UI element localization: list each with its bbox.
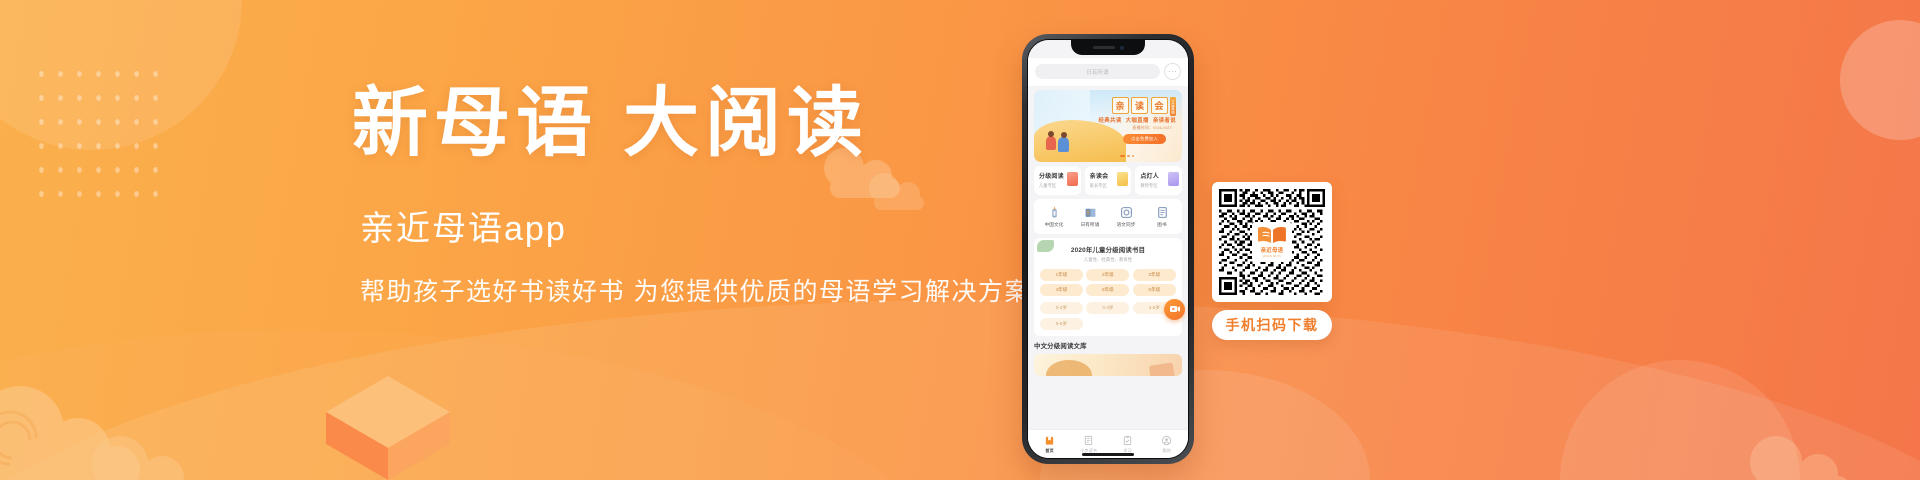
hero-subtitle: 经典共读 大咖直播 亲读者说 — [1098, 116, 1176, 124]
qr-center-logo: 亲近母语 QINJIN MUYU — [1252, 222, 1292, 262]
culture-icon — [1048, 206, 1061, 219]
decor-hill-back — [0, 330, 1000, 480]
hero-sub-2: 大咖直播 — [1126, 116, 1149, 124]
age-chip-group: 0-3岁 3-4岁 4-5岁 5-6岁 — [1040, 302, 1176, 330]
hero-cta-button[interactable]: 点击免费加入 — [1123, 134, 1166, 144]
card-lamplighter[interactable]: 点灯人 教师专区 — [1135, 166, 1182, 195]
study-icon — [1122, 435, 1133, 446]
decor-circle-top-right — [1840, 20, 1920, 140]
hero-title: 亲 读 会 公益直播 — [1112, 97, 1177, 116]
page-title: 新母语 大阅读 — [352, 86, 1032, 162]
copy-block: 新母语 大阅读 亲近母语app 帮助孩子选好书读好书 为您提供优质的母语学习解决… — [352, 86, 1032, 305]
booklist-title: 2020年儿童分级阅读书目 — [1040, 245, 1176, 254]
leaf-decor-icon — [1037, 240, 1054, 252]
decor-dot-grid — [30, 60, 170, 210]
tab-reading[interactable]: 小步读书 — [1069, 435, 1108, 455]
carousel-dots[interactable] — [1120, 155, 1134, 157]
library-arc-decor — [1046, 360, 1092, 376]
sync-icon — [1120, 206, 1133, 219]
dot — [1175, 71, 1177, 73]
bookmark-yellow-icon — [1117, 172, 1128, 186]
decor-circle-bottom-right — [1560, 360, 1800, 480]
grade-chip[interactable]: 5年级 — [1086, 284, 1129, 296]
hero-char-1: 亲 — [1112, 97, 1129, 114]
tab-profile[interactable]: 我的 — [1147, 435, 1186, 455]
bottom-tab-bar: 首页 小步读书 — [1028, 429, 1188, 459]
carousel-dot[interactable] — [1132, 155, 1134, 157]
qr-code-card: 亲近母语 QINJIN MUYU — [1212, 182, 1332, 302]
age-chip[interactable]: 3-4岁 — [1086, 302, 1129, 314]
hero-child-red — [1046, 136, 1056, 150]
hero-banner[interactable]: 亲 读 会 公益直播 经典共读 大咖直播 亲读者说 直播时间：9/16-9/27… — [1034, 90, 1182, 162]
phone-screen-frame: 日有所诵 — [1027, 39, 1189, 459]
dot — [1169, 71, 1171, 73]
profile-icon — [1161, 435, 1172, 446]
more-dots-icon[interactable] — [1164, 63, 1181, 80]
quick-entry-label: 语文同步 — [1117, 222, 1136, 228]
decor-circle-top-left — [0, 0, 242, 150]
tab-home[interactable]: 首页 — [1030, 435, 1069, 455]
promo-banner: 新母语 大阅读 亲近母语app 帮助孩子选好书读好书 为您提供优质的母语学习解决… — [0, 0, 1920, 480]
library-title: 中文分级阅读文库 — [1034, 341, 1182, 350]
hero-char-2: 读 — [1131, 97, 1148, 114]
card-reading-club[interactable]: 亲读会 家长专区 — [1085, 166, 1132, 195]
hero-tag: 公益直播 — [1170, 97, 1176, 116]
quick-entry-label: 中国文化 — [1045, 222, 1064, 228]
app-screen: 日有所诵 — [1028, 40, 1188, 458]
qr-logo-en: QINJIN MUYU — [1262, 255, 1281, 258]
decor-cloud-bottom-left — [0, 378, 164, 480]
qr-logo-name: 亲近母语 — [1261, 246, 1284, 254]
book-logo-icon — [1257, 226, 1287, 245]
grade-chip[interactable]: 2年级 — [1086, 269, 1129, 281]
tagline: 帮助孩子选好书读好书 为您提供优质的母语学习解决方案 — [360, 280, 1032, 305]
library-page-decor — [1149, 362, 1175, 376]
decor-cloud-bottom-left-2 — [86, 424, 206, 480]
qr-code-icon[interactable]: 亲近母语 QINJIN MUYU — [1219, 189, 1325, 295]
bookmark-purple-icon — [1168, 172, 1179, 186]
grade-chip[interactable]: 6年级 — [1133, 284, 1176, 296]
decor-isometric-cube — [322, 368, 454, 480]
phone-notch — [1071, 40, 1145, 55]
hero-sub-3: 亲读者说 — [1153, 116, 1176, 124]
app-name-subtitle: 亲近母语app — [360, 212, 1032, 246]
quick-entry-label: 日有所诵 — [1081, 222, 1100, 228]
quick-entry-label: 图书 — [1157, 222, 1166, 228]
decor-cloud-bottom-right — [1744, 426, 1864, 480]
category-cards: 分级阅读 儿童专区 亲读会 家长专区 点灯人 教师专区 — [1034, 166, 1182, 195]
home-indicator — [1082, 453, 1134, 456]
tab-label: 首页 — [1045, 448, 1053, 454]
decor-hill-front — [0, 300, 1920, 480]
age-chip[interactable]: 5-6岁 — [1040, 318, 1083, 330]
booklist-subtitle: 儿童性、经典性、教育性 — [1040, 257, 1176, 263]
grade-chip[interactable]: 4年级 — [1040, 284, 1083, 296]
hero-date: 直播时间：9/16-9/27 — [1132, 125, 1172, 131]
grade-chip-group: 1年级 2年级 3年级 4年级 5年级 6年级 — [1040, 269, 1176, 297]
hero-child-blue — [1058, 137, 1069, 152]
library-section: 中文分级阅读文库 — [1034, 341, 1182, 376]
recite-icon — [1084, 206, 1097, 219]
home-icon — [1044, 435, 1055, 446]
dot — [1172, 71, 1174, 73]
earpiece-speaker — [1093, 46, 1115, 49]
head — [1061, 132, 1067, 138]
tab-label: 我的 — [1162, 448, 1170, 454]
head — [1048, 131, 1054, 137]
quick-entry-culture[interactable]: 中国文化 — [1036, 206, 1072, 228]
card-graded-reading[interactable]: 分级阅读 儿童专区 — [1034, 166, 1081, 195]
quick-entry-recite[interactable]: 日有所诵 — [1072, 206, 1108, 228]
hero-sub-1: 经典共读 — [1098, 116, 1121, 124]
search-input[interactable]: 日有所诵 — [1035, 64, 1160, 79]
quick-entry-books[interactable]: 图书 — [1144, 206, 1180, 228]
carousel-dot-active[interactable] — [1120, 155, 1125, 157]
grade-chip[interactable]: 1年级 — [1040, 269, 1083, 281]
front-camera-icon — [1120, 46, 1124, 50]
download-button[interactable]: 手机扫码下载 — [1212, 310, 1332, 340]
phone-mockup: 日有所诵 — [1022, 34, 1194, 464]
age-chip[interactable]: 0-3岁 — [1040, 302, 1083, 314]
quick-entry-sync[interactable]: 语文同步 — [1108, 206, 1144, 228]
quick-entry-row: 中国文化 日有所诵 — [1034, 199, 1182, 234]
booklist-section: 2020年儿童分级阅读书目 儿童性、经典性、教育性 1年级 2年级 3年级 4年… — [1034, 238, 1182, 336]
search-row: 日有所诵 — [1028, 58, 1188, 86]
bookmark-red-icon — [1067, 172, 1078, 186]
reading-icon — [1083, 435, 1094, 446]
library-card[interactable] — [1034, 354, 1182, 376]
carousel-dot[interactable] — [1127, 155, 1129, 157]
hero-char-3: 会 — [1151, 97, 1168, 114]
book-icon — [1156, 206, 1169, 219]
grade-chip[interactable]: 3年级 — [1133, 269, 1176, 281]
tab-study[interactable]: 学习 — [1108, 435, 1147, 455]
play-video-icon[interactable] — [1164, 299, 1185, 320]
